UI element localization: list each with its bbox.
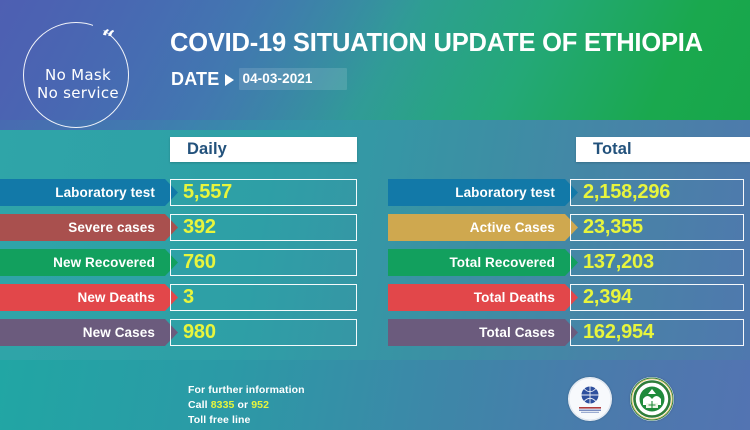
stat-value: 2,394 <box>571 286 632 309</box>
total-column-header: Total <box>576 137 750 162</box>
stat-row: New Cases980 <box>0 319 357 346</box>
date-value: 04-03-2021 <box>242 71 312 86</box>
ministry-of-health-logo <box>568 377 612 421</box>
stat-row: New Deaths3 <box>0 284 357 311</box>
stat-label: New Recovered <box>53 255 178 270</box>
stat-label: Total Deaths <box>474 290 578 305</box>
page-title: COVID-19 SITUATION UPDATE OF ETHIOPIA <box>170 29 703 58</box>
badge-line-2: No service <box>17 84 139 102</box>
call-prefix: Call <box>188 399 211 411</box>
stat-value: 23,355 <box>571 216 643 239</box>
stat-value-box: 5,557 <box>170 179 357 206</box>
stat-value: 392 <box>171 216 216 239</box>
stat-row: Total Deaths2,394 <box>388 284 744 311</box>
stat-row: Laboratory test2,158,296 <box>388 179 744 206</box>
footer-line-3: Toll free line <box>188 413 305 428</box>
stat-label: Laboratory test <box>455 185 578 200</box>
date-label: DATE <box>171 69 219 90</box>
triangle-right-icon <box>225 74 234 86</box>
stat-label: Total Cases <box>479 325 578 340</box>
stat-value-box: 980 <box>170 319 357 346</box>
stat-label-strip: Severe cases <box>0 214 178 241</box>
stat-label-strip: Active Cases <box>388 214 578 241</box>
stat-label: Severe cases <box>68 220 178 235</box>
footer-contact-info: For further information Call 8335 or 952… <box>188 383 305 429</box>
call-conjunction: or <box>234 399 251 411</box>
organization-logos <box>568 377 674 421</box>
stat-label-strip: New Deaths <box>0 284 178 311</box>
stat-value: 980 <box>171 321 216 344</box>
daily-column-header: Daily <box>170 137 357 162</box>
stat-value: 137,203 <box>571 251 654 274</box>
stat-label-strip: Laboratory test <box>388 179 578 206</box>
stat-row: Active Cases23,355 <box>388 214 744 241</box>
stat-value-box: 162,954 <box>570 319 744 346</box>
no-mask-no-service-badge: “ No Mask No service <box>17 18 139 128</box>
stat-label: Active Cases <box>470 220 578 235</box>
stat-label-strip: Total Cases <box>388 319 578 346</box>
phone-number-primary: 8335 <box>211 399 235 411</box>
stat-label-strip: New Cases <box>0 319 178 346</box>
stat-row: Laboratory test5,557 <box>0 179 357 206</box>
stat-label-strip: New Recovered <box>0 249 178 276</box>
covid-situation-poster: “ No Mask No service COVID-19 SITUATION … <box>0 0 750 430</box>
stat-row: Severe cases392 <box>0 214 357 241</box>
badge-text: No Mask No service <box>17 66 139 103</box>
date-row: DATE 04-03-2021 <box>171 68 347 90</box>
stat-value-box: 137,203 <box>570 249 744 276</box>
stat-value-box: 3 <box>170 284 357 311</box>
stat-value: 760 <box>171 251 216 274</box>
stat-label: New Deaths <box>77 290 178 305</box>
stat-value-box: 2,158,296 <box>570 179 744 206</box>
stat-value: 5,557 <box>171 181 232 204</box>
ethiopian-public-health-institute-logo <box>630 377 674 421</box>
stat-label-strip: Total Deaths <box>388 284 578 311</box>
stat-value: 3 <box>171 286 194 309</box>
stat-value-box: 23,355 <box>570 214 744 241</box>
stat-value-box: 760 <box>170 249 357 276</box>
stat-value-box: 392 <box>170 214 357 241</box>
stat-row: Total Cases162,954 <box>388 319 744 346</box>
daily-column-header-label: Daily <box>170 140 227 159</box>
stat-value: 2,158,296 <box>571 181 670 204</box>
stat-label-strip: Laboratory test <box>0 179 178 206</box>
footer-line-1: For further information <box>188 383 305 398</box>
stat-value: 162,954 <box>571 321 654 344</box>
stat-label: Total Recovered <box>449 255 578 270</box>
stat-value-box: 2,394 <box>570 284 744 311</box>
date-value-container: 04-03-2021 <box>239 68 346 90</box>
phone-number-secondary: 952 <box>251 399 269 411</box>
stat-row: Total Recovered137,203 <box>388 249 744 276</box>
stat-label: Laboratory test <box>55 185 178 200</box>
badge-line-1: No Mask <box>17 66 139 84</box>
stat-label-strip: Total Recovered <box>388 249 578 276</box>
footer-line-2: Call 8335 or 952 <box>188 398 305 413</box>
stat-label: New Cases <box>83 325 178 340</box>
stat-row: New Recovered760 <box>0 249 357 276</box>
total-column-header-label: Total <box>576 140 632 159</box>
